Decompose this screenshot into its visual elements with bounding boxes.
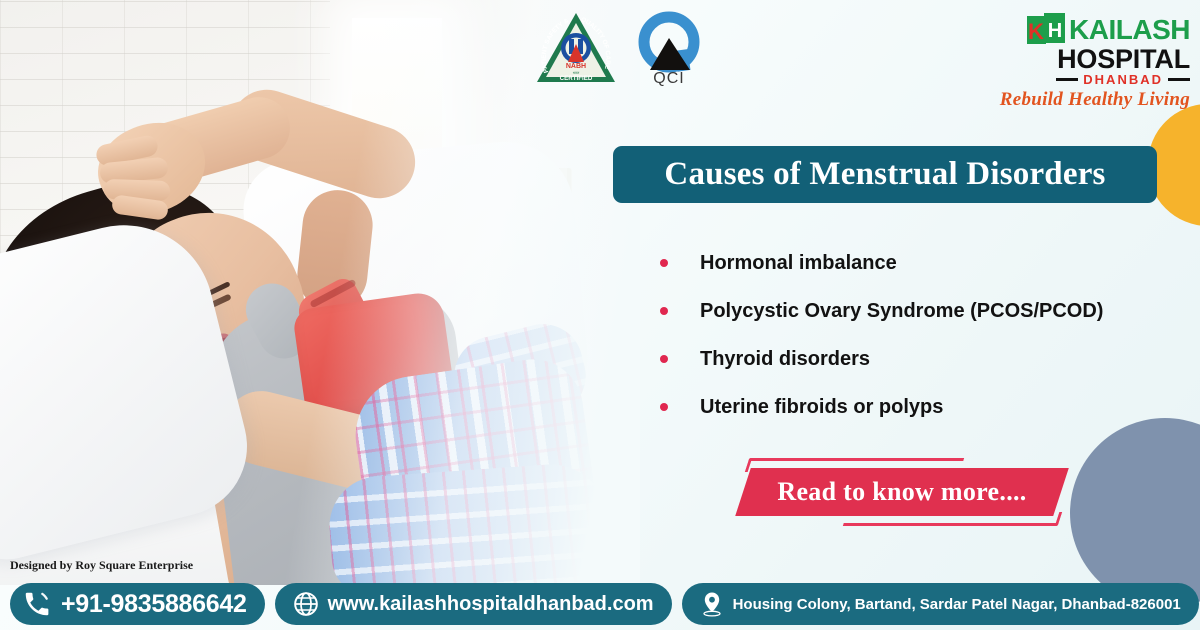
list-item-label: Hormonal imbalance xyxy=(700,250,897,276)
list-item: Hormonal imbalance xyxy=(660,250,1180,276)
logo-dhanbad-row: DHANBAD xyxy=(986,72,1190,87)
read-more-button[interactable]: Read to know more.... xyxy=(735,458,1075,530)
location-pin-icon xyxy=(700,591,724,617)
photo-lower-arm xyxy=(216,383,457,510)
logo-dash-left xyxy=(1056,78,1078,81)
phone-pill[interactable]: +91-9835886642 xyxy=(10,583,265,625)
list-item: Thyroid disorders xyxy=(660,346,1180,372)
svg-text:QCI: QCI xyxy=(653,70,684,86)
photo-eye-left xyxy=(159,275,191,297)
qci-badge: QCI xyxy=(638,10,700,86)
logo-tagline: Rebuild Healthy Living xyxy=(986,89,1190,111)
svg-text:H: H xyxy=(1048,20,1062,42)
photo-radiator xyxy=(362,168,572,224)
photo-mattress xyxy=(0,330,640,585)
photo-eye-right xyxy=(200,294,232,313)
photo-hot-water-bottle xyxy=(292,290,458,438)
logo-top-row: K H KAILASH xyxy=(986,12,1190,48)
photo-shoulder xyxy=(294,187,376,314)
title-banner: Causes of Menstrual Disorders xyxy=(613,146,1157,203)
photo-finger xyxy=(111,194,169,221)
photo-tank-strap xyxy=(237,274,320,367)
photo-radiator-left xyxy=(300,170,362,222)
globe-icon xyxy=(293,591,319,617)
svg-text:K: K xyxy=(1028,19,1044,44)
photo-forearm xyxy=(117,90,298,196)
photo-pajama-leg xyxy=(326,460,614,585)
nabh-certified-badge: NABH भारत PATIENT SAFETY & QUALITY OF CA… xyxy=(534,10,618,86)
bullet-dot-icon xyxy=(660,307,668,315)
photo-bottle-neck xyxy=(293,274,374,350)
photo-finger xyxy=(104,179,171,201)
poster-canvas: NABH भारत PATIENT SAFETY & QUALITY OF CA… xyxy=(0,0,1200,630)
photo-hair-front xyxy=(0,240,177,411)
photo-window xyxy=(352,18,442,208)
globe-glyph xyxy=(293,591,319,617)
contact-bar: +91-9835886642 www.kailashhospitaldhanba… xyxy=(0,578,1200,630)
kh-icon: K H xyxy=(1026,12,1066,48)
photo-nose xyxy=(180,302,210,336)
list-item-label: Uterine fibroids or polyps xyxy=(700,394,943,420)
svg-text:NABH: NABH xyxy=(566,63,586,70)
kh-monogram-icon: K H xyxy=(1026,12,1066,48)
causes-list: Hormonal imbalance Polycystic Ovary Synd… xyxy=(660,250,1180,442)
photo-tank-top xyxy=(202,291,488,585)
photo-neck xyxy=(198,340,317,465)
patient-photo xyxy=(0,0,640,585)
photo-hair xyxy=(0,157,263,418)
logo-kailash-text: KAILASH xyxy=(1069,17,1190,44)
location-pin-glyph xyxy=(700,591,724,617)
logo-dash-right xyxy=(1168,78,1190,81)
photo-pillow-back xyxy=(239,136,590,424)
bullet-dot-icon xyxy=(660,259,668,267)
nabh-icon: NABH भारत PATIENT SAFETY & QUALITY OF CA… xyxy=(534,10,618,86)
photo-pillow-front xyxy=(0,206,262,570)
list-item-label: Polycystic Ovary Syndrome (PCOS/PCOD) xyxy=(700,298,1103,324)
photo-finger xyxy=(94,134,159,167)
photo-hand-on-forehead xyxy=(85,106,219,230)
logo-hospital-text: HOSPITAL xyxy=(986,46,1190,73)
photo-pajama-knee xyxy=(446,316,594,437)
photo-lips-line xyxy=(194,335,229,356)
photo-brick-texture xyxy=(0,0,330,340)
address-pill[interactable]: Housing Colony, Bartand, Sardar Patel Na… xyxy=(682,583,1199,625)
read-more-label: Read to know more.... xyxy=(743,468,1061,516)
page-title: Causes of Menstrual Disorders xyxy=(664,156,1105,193)
qci-icon: QCI xyxy=(638,10,700,86)
photo-upper-arm xyxy=(222,80,425,207)
list-item: Uterine fibroids or polyps xyxy=(660,394,1180,420)
list-item-label: Thyroid disorders xyxy=(700,346,870,372)
list-item: Polycystic Ovary Syndrome (PCOS/PCOD) xyxy=(660,298,1180,324)
bullet-dot-icon xyxy=(660,403,668,411)
phone-number: +91-9835886642 xyxy=(61,590,247,619)
hospital-logo: K H KAILASH HOSPITAL DHANBAD Rebuild Hea… xyxy=(986,12,1190,111)
photo-face xyxy=(92,185,330,426)
logo-dhanbad-text: DHANBAD xyxy=(1083,72,1163,87)
svg-text:CERTIFIED: CERTIFIED xyxy=(560,75,593,82)
certification-badges: NABH भारत PATIENT SAFETY & QUALITY OF CA… xyxy=(534,10,700,86)
photo-eyebrow-right xyxy=(203,281,230,298)
photo-bottle-rib xyxy=(309,279,356,309)
photo-lips xyxy=(188,329,233,363)
website-pill[interactable]: www.kailashhospitaldhanbad.com xyxy=(275,583,672,625)
photo-finger xyxy=(99,157,169,185)
photo-eyebrow-left xyxy=(161,260,189,280)
photo-torso xyxy=(199,372,462,585)
designer-credit: Designed by Roy Square Enterprise xyxy=(10,558,193,573)
address-text: Housing Colony, Bartand, Sardar Patel Na… xyxy=(733,596,1181,613)
phone-glyph xyxy=(22,589,52,619)
photo-wall xyxy=(0,0,640,585)
photo-hand-on-belly xyxy=(414,393,512,485)
bullet-dot-icon xyxy=(660,355,668,363)
phone-icon xyxy=(22,589,52,619)
website-url: www.kailashhospitaldhanbad.com xyxy=(328,593,654,616)
photo-pajama-thigh xyxy=(348,353,602,573)
